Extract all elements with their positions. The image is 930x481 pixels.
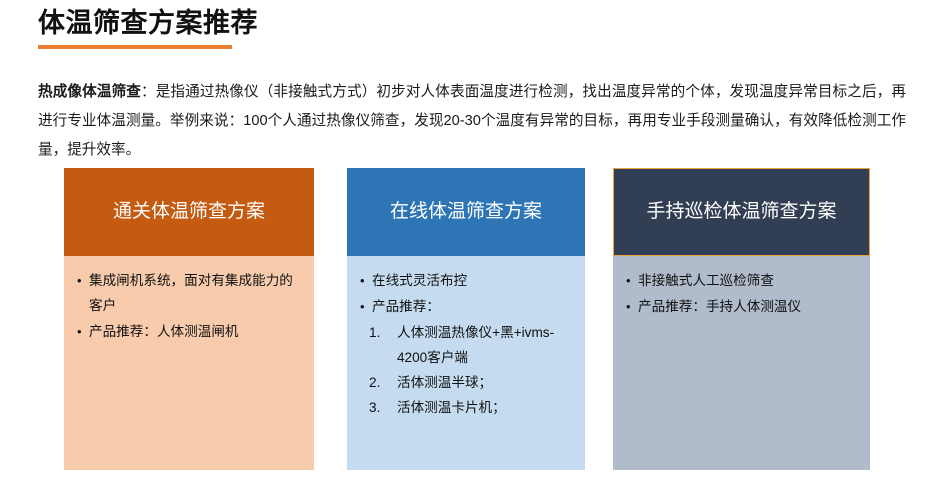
card-title-handheld: 手持巡检体温筛查方案 bbox=[646, 197, 836, 227]
title-block: 体温筛查方案推荐 bbox=[38, 6, 738, 49]
title-underline-rule bbox=[38, 45, 232, 49]
numbered-list-online: 人体测温热像仪+黑+ivms-4200客户端 活体测温半球； 活体测温卡片机； bbox=[359, 320, 575, 420]
list-item: 在线式灵活布控 bbox=[359, 268, 575, 293]
card-body-gate: 集成闸机系统，面对有集成能力的客户 产品推荐：人体测温闸机 bbox=[64, 256, 314, 470]
list-item: 产品推荐：手持人体测温仪 bbox=[625, 294, 860, 319]
solution-card-handheld[interactable]: 手持巡检体温筛查方案 非接触式人工巡检筛查 产品推荐：手持人体测温仪 bbox=[613, 168, 870, 470]
intro-paragraph: 热成像体温筛查：是指通过热像仪（非接触式方式）初步对人体表面温度进行检测，找出温… bbox=[38, 78, 906, 165]
page-title: 体温筛查方案推荐 bbox=[38, 6, 738, 40]
intro-lead-term: 热成像体温筛查 bbox=[38, 84, 141, 100]
list-item: 活体测温半球； bbox=[369, 370, 575, 395]
list-item: 产品推荐：人体测温闸机 bbox=[76, 319, 304, 344]
card-header-gate: 通关体温筛查方案 bbox=[64, 168, 314, 256]
card-title-online: 在线体温筛查方案 bbox=[390, 197, 542, 227]
card-body-handheld: 非接触式人工巡检筛查 产品推荐：手持人体测温仪 bbox=[613, 256, 870, 470]
list-item: 非接触式人工巡检筛查 bbox=[625, 268, 860, 293]
solution-card-gate[interactable]: 通关体温筛查方案 集成闸机系统，面对有集成能力的客户 产品推荐：人体测温闸机 bbox=[64, 168, 314, 470]
list-item: 产品推荐： bbox=[359, 294, 575, 319]
bullet-list-online: 在线式灵活布控 产品推荐： bbox=[359, 268, 575, 319]
intro-body-text: ：是指通过热像仪（非接触式方式）初步对人体表面温度进行检测，找出温度异常的个体，… bbox=[38, 84, 906, 158]
card-title-gate: 通关体温筛查方案 bbox=[113, 197, 265, 227]
slide-root: 体温筛查方案推荐 热成像体温筛查：是指通过热像仪（非接触式方式）初步对人体表面温… bbox=[0, 0, 930, 481]
bullet-list-handheld: 非接触式人工巡检筛查 产品推荐：手持人体测温仪 bbox=[625, 268, 860, 319]
list-item: 人体测温热像仪+黑+ivms-4200客户端 bbox=[369, 320, 575, 370]
solution-cards-row: 通关体温筛查方案 集成闸机系统，面对有集成能力的客户 产品推荐：人体测温闸机 在… bbox=[64, 168, 870, 470]
list-item: 活体测温卡片机； bbox=[369, 395, 575, 420]
card-header-handheld: 手持巡检体温筛查方案 bbox=[613, 168, 870, 256]
card-header-online: 在线体温筛查方案 bbox=[347, 168, 585, 256]
list-item: 集成闸机系统，面对有集成能力的客户 bbox=[76, 268, 304, 318]
card-body-online: 在线式灵活布控 产品推荐： 人体测温热像仪+黑+ivms-4200客户端 活体测… bbox=[347, 256, 585, 470]
bullet-list-gate: 集成闸机系统，面对有集成能力的客户 产品推荐：人体测温闸机 bbox=[76, 268, 304, 344]
solution-card-online[interactable]: 在线体温筛查方案 在线式灵活布控 产品推荐： 人体测温热像仪+黑+ivms-42… bbox=[347, 168, 585, 470]
